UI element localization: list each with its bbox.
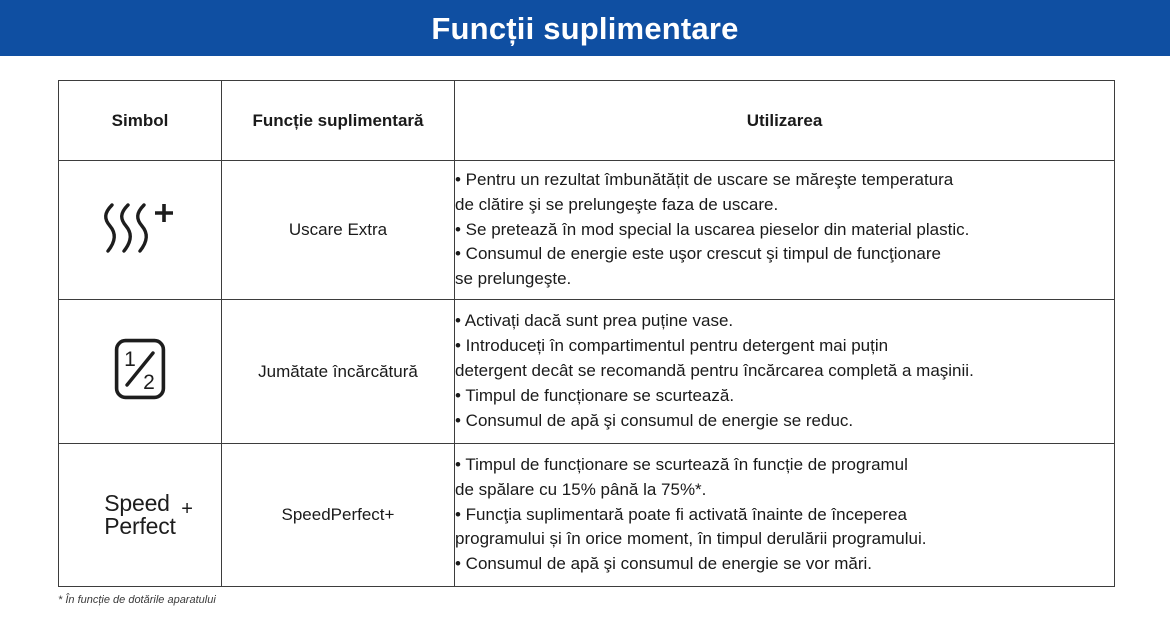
symbol-cell-speed-perfect: Speed Perfect + xyxy=(59,444,222,587)
function-name-half-load: Jumătate încărcătură xyxy=(222,300,455,444)
symbol-cell-half-load: 1 2 xyxy=(59,300,222,444)
usage-line: • Timpul de funcționare se scurtează. xyxy=(455,384,1114,409)
column-header-usage: Utilizarea xyxy=(455,81,1115,161)
usage-cell-speed-perfect: • Timpul de funcționare se scurtează în … xyxy=(455,444,1115,587)
usage-cell-half-load: • Activați dacă sunt prea puține vase. •… xyxy=(455,300,1115,444)
footnote: * În funcție de dotările aparatului xyxy=(58,594,216,606)
function-name-speed-perfect: SpeedPerfect+ xyxy=(222,444,455,587)
usage-line: • Se pretează în mod special la uscarea … xyxy=(455,218,1114,243)
functions-table-container: Simbol Funcție suplimentară Utilizarea xyxy=(58,80,1114,587)
usage-line: • Timpul de funcționare se scurtează în … xyxy=(455,453,1114,478)
usage-line: de spălare cu 15% până la 75%*. xyxy=(455,478,1114,503)
table-row: 1 2 Jumătate încărcătură • Activați dacă… xyxy=(59,300,1115,444)
speed-perfect-plus-sign: + xyxy=(181,499,192,519)
symbol-cell-extra-dry xyxy=(59,161,222,300)
usage-line: programului și în orice moment, în timpu… xyxy=(455,527,1114,552)
speed-perfect-plus-icon: Speed Perfect + xyxy=(104,492,175,538)
page-title: Funcții suplimentare xyxy=(431,13,738,44)
table-header: Simbol Funcție suplimentară Utilizarea xyxy=(59,81,1115,161)
usage-line: • Consumul de energie este uşor crescut … xyxy=(455,242,1114,267)
usage-line: • Funcţia suplimentară poate fi activată… xyxy=(455,503,1114,528)
function-name-extra-dry: Uscare Extra xyxy=(222,161,455,300)
half-load-one-half-icon: 1 2 xyxy=(114,338,166,400)
usage-line: detergent decât se recomandă pentru încă… xyxy=(455,359,1114,384)
table-body: Uscare Extra • Pentru un rezultat îmbună… xyxy=(59,161,1115,587)
page-title-banner: Funcții suplimentare xyxy=(0,0,1170,56)
table-row: Speed Perfect + SpeedPerfect+ • Timpul d… xyxy=(59,444,1115,587)
usage-line: de clătire şi se prelungeşte faza de usc… xyxy=(455,193,1114,218)
svg-text:2: 2 xyxy=(143,371,155,394)
usage-line: • Consumul de apă şi consumul de energie… xyxy=(455,409,1114,434)
usage-line: • Introduceți în compartimentul pentru d… xyxy=(455,334,1114,359)
speed-perfect-line-2: Perfect xyxy=(104,515,175,538)
usage-cell-extra-dry: • Pentru un rezultat îmbunătățit de usca… xyxy=(455,161,1115,300)
speed-perfect-line-1: Speed xyxy=(104,492,175,515)
column-header-function: Funcție suplimentară xyxy=(222,81,455,161)
additional-functions-table: Simbol Funcție suplimentară Utilizarea xyxy=(58,80,1115,587)
table-row: Uscare Extra • Pentru un rezultat îmbună… xyxy=(59,161,1115,300)
usage-line: • Activați dacă sunt prea puține vase. xyxy=(455,309,1114,334)
extra-dry-steam-plus-icon xyxy=(98,199,182,257)
table-header-row: Simbol Funcție suplimentară Utilizarea xyxy=(59,81,1115,161)
usage-line: • Pentru un rezultat îmbunătățit de usca… xyxy=(455,168,1114,193)
column-header-symbol: Simbol xyxy=(59,81,222,161)
usage-line: se prelungeşte. xyxy=(455,267,1114,292)
svg-text:1: 1 xyxy=(124,348,136,371)
usage-line: • Consumul de apă şi consumul de energie… xyxy=(455,552,1114,577)
